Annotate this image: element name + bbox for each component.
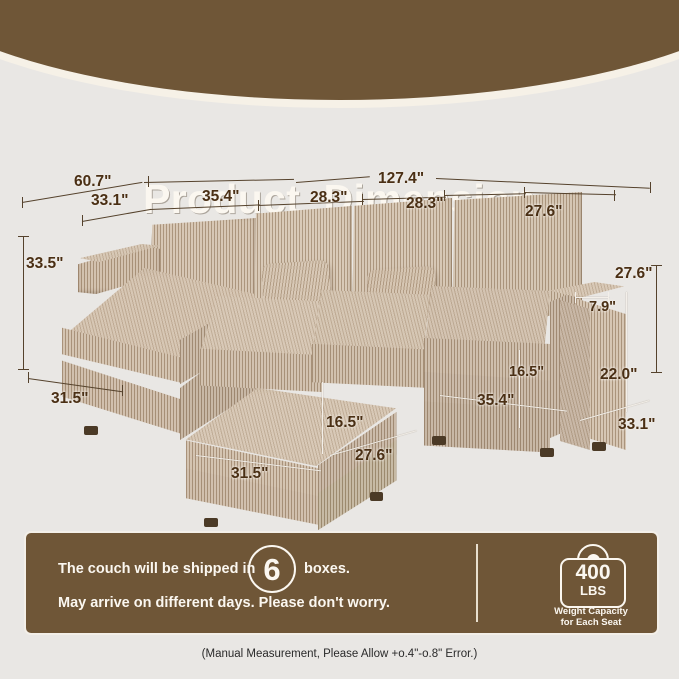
rule-7-9: [575, 297, 609, 298]
label-127-4: 127.4": [378, 170, 424, 188]
shipping-line-1-prefix: The couch will be shipped in: [58, 561, 255, 577]
label-27-6-ottoman: 27.6": [355, 447, 393, 465]
tick-33-1-start: [82, 215, 83, 226]
label-31-5-ottoman: 31.5": [231, 465, 269, 483]
infographic-page: Product Dimension: [0, 0, 679, 679]
ottoman-foot-right: [370, 492, 383, 501]
label-7-9: 7.9": [589, 299, 616, 315]
label-28-3-b: 28.3": [406, 195, 444, 213]
sofa-foot-mid: [432, 436, 446, 445]
sofa-foot-right: [540, 448, 554, 457]
label-16-5-right: 16.5": [509, 364, 544, 380]
label-22-0: 22.0": [600, 366, 638, 384]
tick-28-3-b-end: [524, 187, 525, 198]
label-33-1-right: 33.1": [618, 416, 656, 434]
tick-31-5-left-a: [28, 372, 29, 383]
tick-127-4-end: [650, 182, 651, 193]
tick-33-1-end: [258, 200, 259, 211]
tick-35-4-end: [362, 194, 363, 205]
rule-27-6-right: [656, 265, 657, 373]
infobar-divider: [476, 544, 478, 622]
label-28-3-a: 28.3": [310, 189, 348, 207]
shipping-line-2: May arrive on different days. Please don…: [58, 595, 390, 611]
tick-27-6-right-bot: [651, 372, 662, 373]
tick-33-5-top: [18, 236, 29, 237]
shipping-line-1-suffix: boxes.: [304, 561, 350, 577]
weight-caption-line-2: for Each Seat: [561, 617, 622, 628]
ottoman-foot-left: [204, 518, 218, 527]
label-60-7: 60.7": [74, 173, 112, 191]
label-35-4-bottom: 35.4": [477, 392, 515, 410]
weight-unit: LBS: [562, 584, 624, 597]
label-35-4-top: 35.4": [202, 188, 240, 206]
tick-28-3-a-end: [444, 190, 445, 201]
rule-33-5: [23, 236, 24, 370]
weight-capacity-badge: 400 LBS Weight Capacity for Each Seat: [546, 544, 636, 624]
tick-31-5-left-b: [122, 385, 123, 396]
tick-27-6-top-end: [614, 190, 615, 201]
box-count-badge: 6: [248, 545, 296, 593]
right-arm-front: [560, 300, 590, 450]
weight-value: 400: [562, 562, 624, 583]
tick-33-5-bottom: [18, 369, 29, 370]
chaise-foot-left: [84, 426, 98, 435]
tick-7-9-a: [575, 292, 576, 303]
rule-16-5-right: [519, 350, 520, 428]
weight-caption: Weight Capacity for Each Seat: [542, 606, 640, 628]
rule-16-5-ottoman: [322, 382, 323, 454]
right-arm-foot: [592, 442, 606, 451]
label-33-5: 33.5": [26, 255, 64, 273]
tick-60-7-end: [148, 176, 149, 187]
shipping-info-bar: The couch will be shipped in 6 boxes. Ma…: [24, 531, 659, 635]
label-27-6-top: 27.6": [525, 203, 563, 221]
tick-60-7-start: [22, 197, 23, 208]
label-33-1-top: 33.1": [91, 192, 129, 210]
weight-plate: 400 LBS: [560, 558, 626, 608]
label-27-6-right: 27.6": [615, 265, 653, 283]
measurement-disclaimer: (Manual Measurement, Please Allow +o.4"-…: [0, 648, 679, 660]
rule-22-0: [626, 292, 627, 412]
weight-caption-line-1: Weight Capacity: [554, 606, 628, 617]
label-16-5-ottoman: 16.5": [326, 414, 364, 432]
label-31-5-left: 31.5": [51, 390, 89, 408]
